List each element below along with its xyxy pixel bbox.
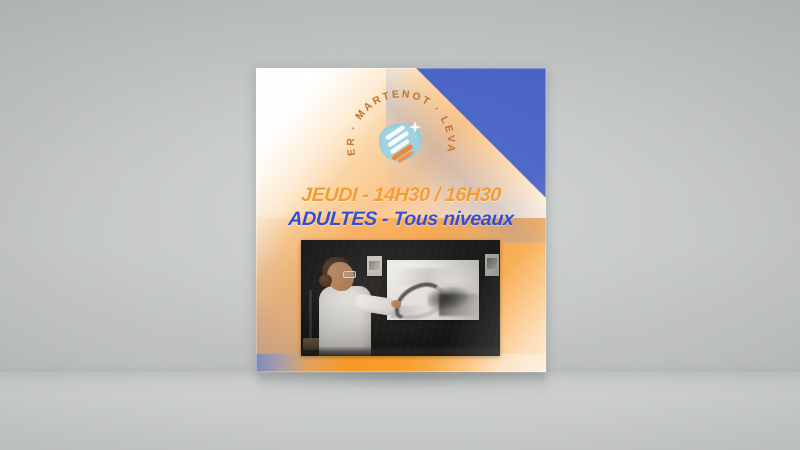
drawing-stroke-shadow (439, 294, 479, 316)
paint-palette-emblem (375, 120, 427, 166)
photo-easel-post (309, 290, 312, 342)
poster-floor-reflection (258, 373, 546, 399)
photo-reference-sheet-left (367, 256, 382, 276)
poster-bottom-orange-strip (256, 354, 546, 372)
photo-figure-glasses (343, 271, 356, 278)
scene: ATELIER · MARTENOT · LEVALLOIS (0, 0, 800, 450)
photo-figure-hair-bun (319, 274, 332, 287)
headline-schedule: JEUDI - 14H30 / 16H30 (256, 184, 546, 207)
photo-floor (301, 346, 500, 356)
course-poster[interactable]: ATELIER · MARTENOT · LEVALLOIS (256, 68, 546, 372)
photo-charcoal-drawing (387, 260, 479, 320)
photo-reference-sheet-right (485, 254, 499, 276)
studio-photo (301, 240, 500, 356)
headline-audience: ADULTES - Tous niveaux (256, 208, 546, 231)
